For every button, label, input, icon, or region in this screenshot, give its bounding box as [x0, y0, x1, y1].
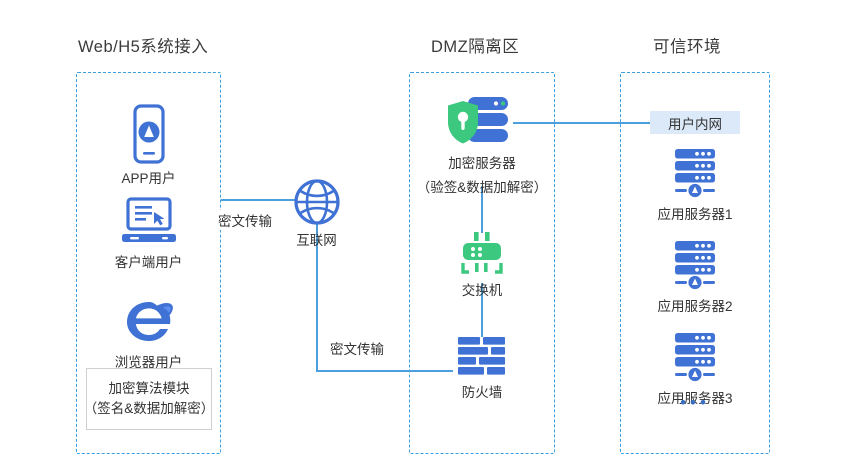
node-label-line1: 加密服务器 — [409, 154, 555, 173]
zone-title-trusted: 可信环境 — [653, 33, 721, 57]
node-label: 客户端用户 — [76, 253, 221, 272]
node-label-line2: （验签&数据加解密） — [409, 178, 555, 197]
switch-icon — [409, 232, 555, 276]
node-internet[interactable]: 互联网 — [244, 178, 389, 250]
encryption-algorithm-module-box: 加密算法模块 （签名&数据加解密） — [86, 368, 212, 430]
node-label: APP用户 — [76, 169, 221, 188]
zone-title-web: Web/H5系统接入 — [78, 33, 208, 57]
zone-title-dmz: DMZ隔离区 — [431, 33, 519, 57]
node-app-server-2[interactable]: 应用服务器2 — [620, 240, 770, 316]
node-label: 交换机 — [409, 281, 555, 300]
node-encryption-server[interactable]: 加密服务器 （验签&数据加解密） — [409, 95, 555, 197]
shielded-server-icon — [409, 95, 555, 149]
node-app-user[interactable]: APP用户 — [76, 104, 221, 188]
module-label-line1: 加密算法模块 — [109, 379, 190, 399]
firewall-brick-icon — [409, 336, 555, 378]
node-client-user[interactable]: 客户端用户 — [76, 196, 221, 272]
node-switch[interactable]: 交换机 — [409, 232, 555, 300]
globe-icon — [244, 178, 389, 226]
user-lan-label: 用户内网 — [668, 113, 722, 133]
module-label-line2: （签名&数据加解密） — [84, 399, 215, 419]
mobile-phone-icon — [76, 104, 221, 164]
node-browser-user[interactable]: 浏览器用户 — [76, 296, 221, 372]
node-app-server-1[interactable]: 应用服务器1 — [620, 148, 770, 224]
architecture-diagram: Web/H5系统接入 DMZ隔离区 可信环境 密文传输 密文传输 APP用户 — [0, 0, 847, 476]
user-lan-box: 用户内网 — [650, 111, 740, 134]
node-label: 应用服务器1 — [620, 205, 770, 224]
node-label: 应用服务器2 — [620, 297, 770, 316]
node-firewall[interactable]: 防火墙 — [409, 336, 555, 402]
internet-explorer-icon — [76, 296, 221, 348]
laptop-icon — [76, 196, 221, 248]
server-rack-icon — [620, 148, 770, 200]
server-rack-icon — [620, 332, 770, 384]
server-rack-icon — [620, 240, 770, 292]
node-label: 防火墙 — [409, 383, 555, 402]
edge-label-ciphertext-2: 密文传输 — [327, 338, 387, 358]
more-servers-indicator: ••• — [620, 398, 770, 408]
node-label: 互联网 — [244, 231, 389, 250]
